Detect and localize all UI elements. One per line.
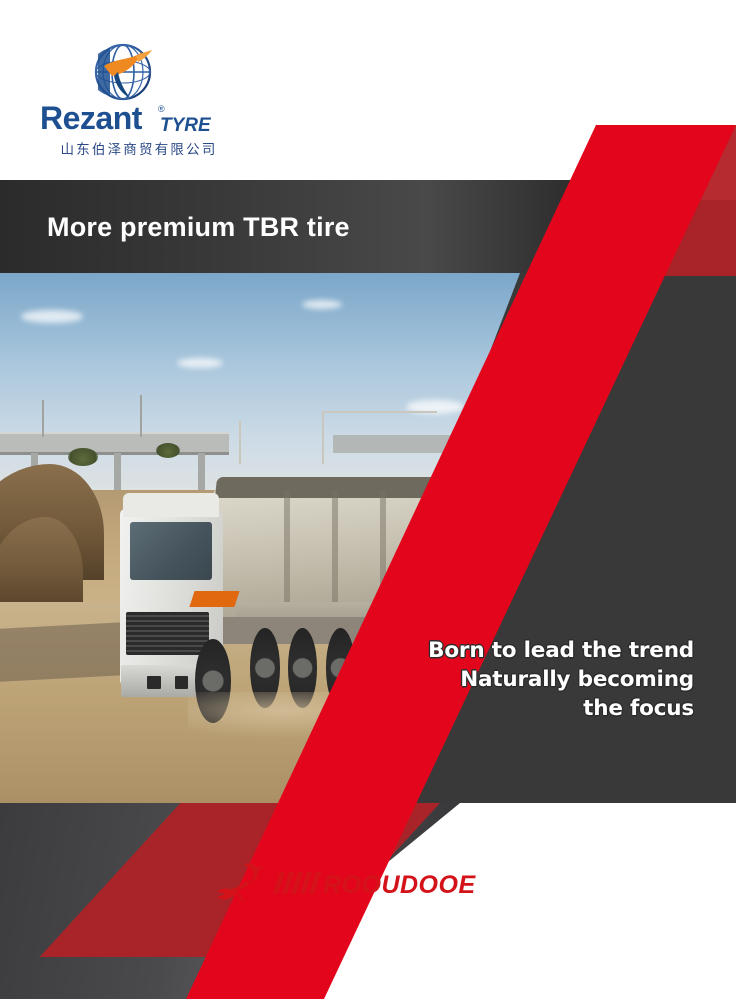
footer-wordmark-text: ROOUDOOE bbox=[323, 871, 476, 898]
trailer-top-cover bbox=[215, 477, 437, 498]
highway-bridge bbox=[0, 432, 229, 455]
cloud bbox=[302, 300, 342, 309]
brand-chinese-name: 山东伯泽商贸有限公司 bbox=[44, 138, 234, 158]
globe-swoosh-icon bbox=[90, 42, 162, 104]
orange-stripe bbox=[189, 591, 239, 607]
windshield bbox=[130, 522, 212, 580]
svg-text:TYRE: TYRE bbox=[160, 115, 212, 136]
cloud bbox=[177, 358, 223, 368]
tagline: Born to lead the trend Naturally becomin… bbox=[394, 636, 694, 723]
trailer-band bbox=[380, 490, 385, 617]
footer-wordmark: ROOUDOOE bbox=[271, 868, 521, 898]
tree bbox=[68, 448, 98, 466]
crane-mast bbox=[322, 411, 324, 464]
cab-roof bbox=[123, 493, 219, 517]
light-pole bbox=[140, 395, 142, 437]
trailer-band bbox=[284, 490, 289, 617]
cloud bbox=[21, 310, 83, 323]
brand-wordmark: Rezant TYRE ® bbox=[38, 100, 238, 136]
trailer-band bbox=[332, 490, 337, 617]
svg-text:®: ® bbox=[158, 104, 165, 114]
crane-jib bbox=[322, 411, 436, 413]
radiator-grille bbox=[126, 612, 208, 654]
light-pole bbox=[42, 400, 44, 437]
tagline-line-2: Naturally becoming bbox=[394, 665, 694, 694]
tagline-line-1: Born to lead the trend bbox=[394, 636, 694, 665]
svg-text:Rezant: Rezant bbox=[40, 100, 143, 136]
tree bbox=[156, 443, 180, 458]
footer-brand-logo: ROOUDOOE bbox=[0, 852, 736, 914]
scorpion-icon bbox=[215, 858, 275, 908]
page-title: More premium TBR tire bbox=[47, 212, 350, 243]
bumper-vent bbox=[147, 676, 161, 689]
bumper-vent bbox=[175, 676, 189, 689]
poster-page: More premium TBR tire Born to lead the t… bbox=[0, 0, 736, 999]
dirt-mound bbox=[0, 517, 83, 612]
brand-logo: Rezant TYRE ® 山东伯泽商贸有限公司 bbox=[38, 42, 238, 162]
tagline-line-3: the focus bbox=[394, 694, 694, 723]
crane-mast bbox=[239, 421, 241, 463]
